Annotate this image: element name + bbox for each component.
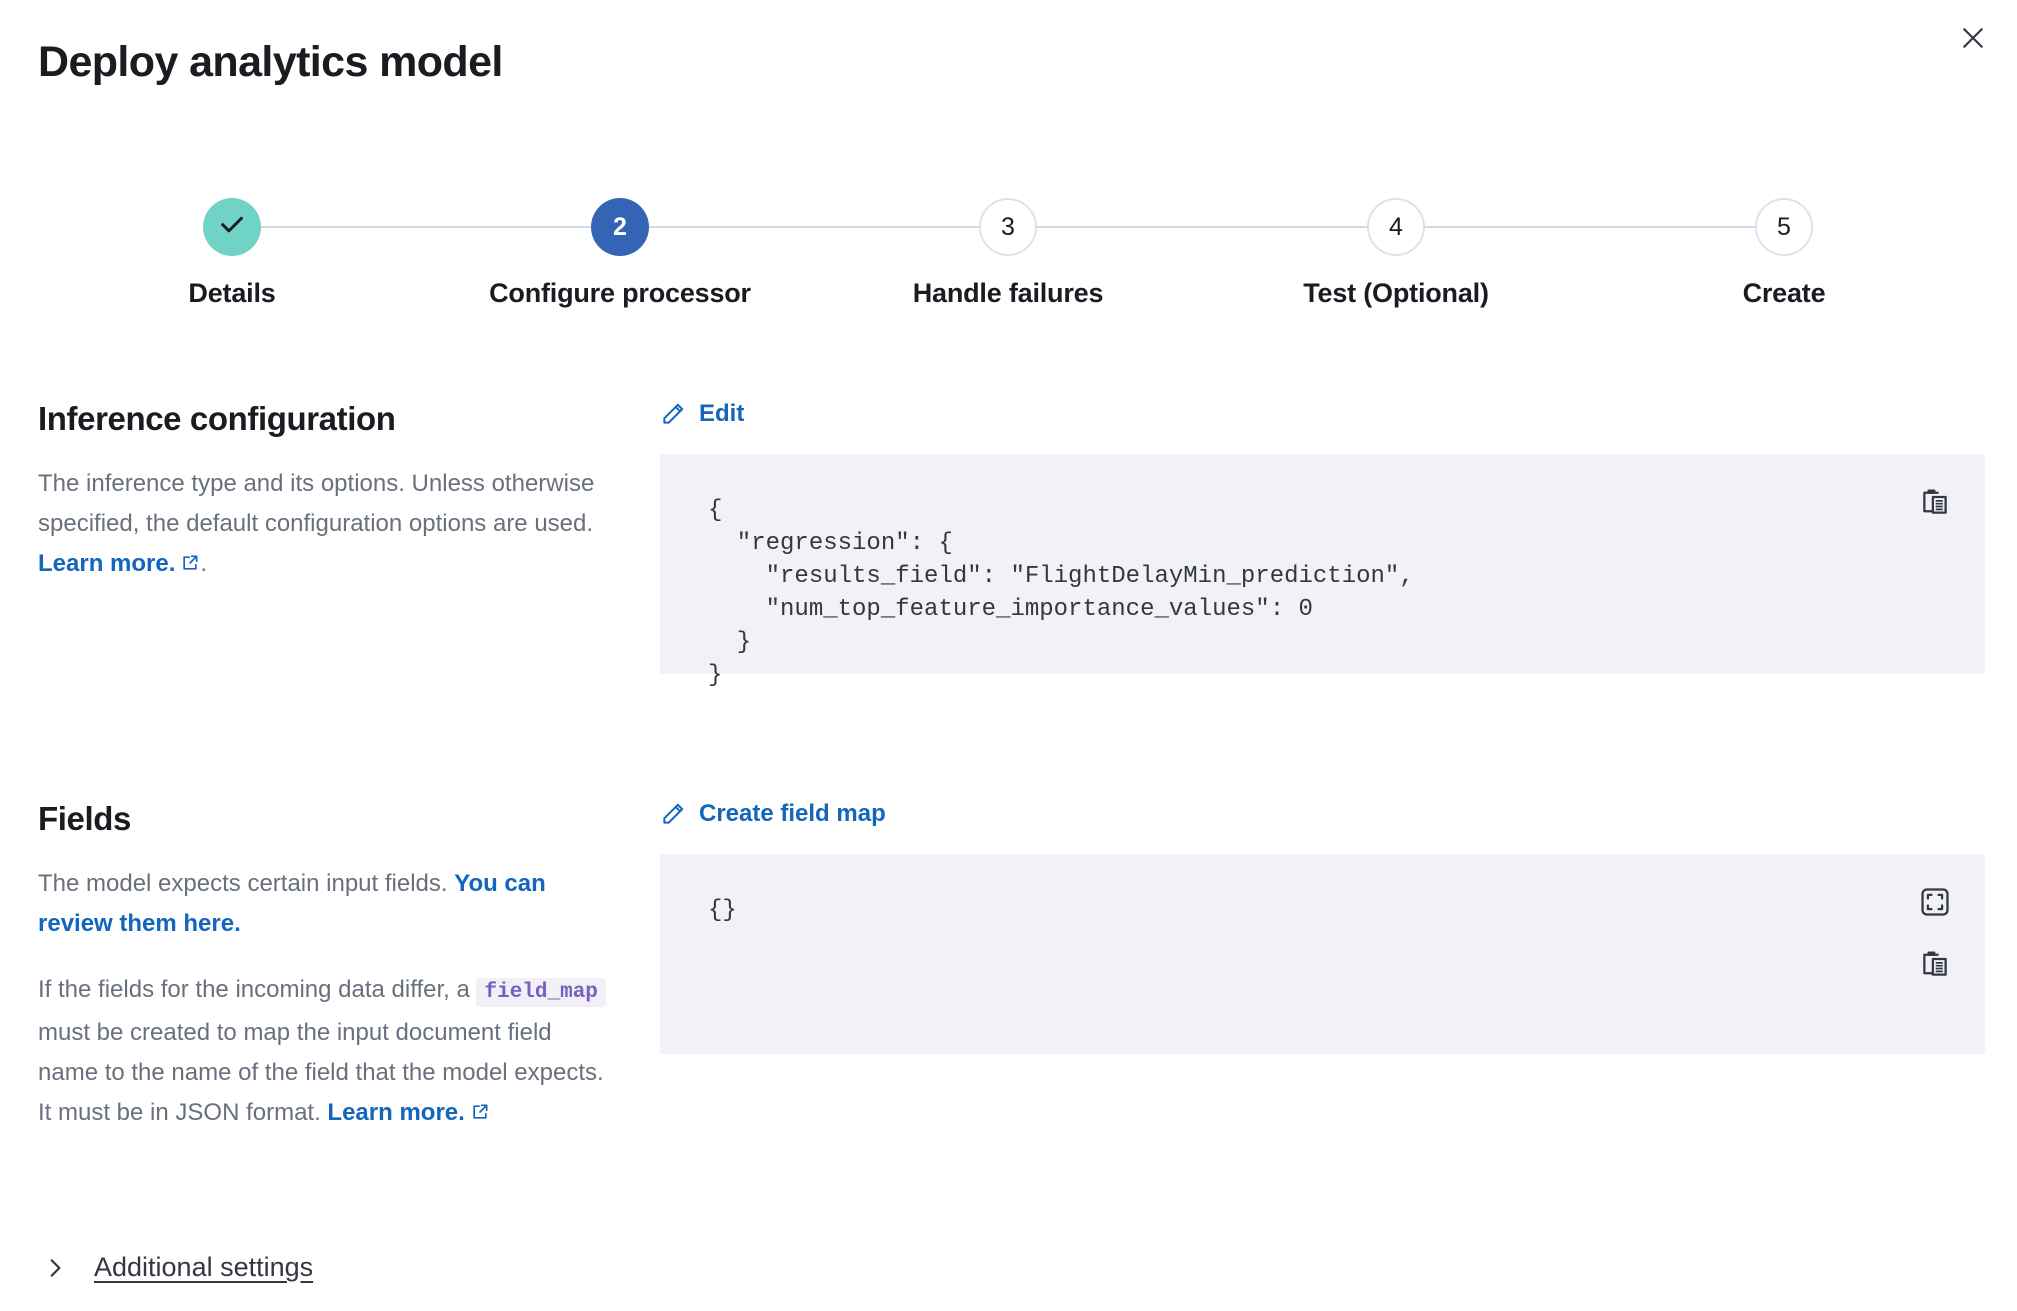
step-create[interactable]: 5 Create (1590, 198, 1978, 309)
step-configure-processor[interactable]: 2 Configure processor (426, 198, 814, 309)
close-icon (1958, 23, 1988, 53)
step-handle-failures[interactable]: 3 Handle failures (814, 198, 1202, 309)
step-label-4[interactable]: Test (Optional) (1303, 278, 1489, 309)
step-indicator-4[interactable]: 4 (1367, 198, 1425, 256)
external-link-icon (180, 546, 200, 586)
inference-config-code: { "regression": { "results_field": "Flig… (708, 494, 1985, 692)
step-label-1[interactable]: Details (188, 278, 275, 309)
step-indicator-5[interactable]: 5 (1755, 198, 1813, 256)
field-map-code: {} (708, 894, 1985, 927)
fields-description: The model expects certain input fields. … (38, 864, 618, 944)
field-map-note-pre: If the fields for the incoming data diff… (38, 976, 476, 1003)
step-circle-row: 3 (814, 198, 1202, 256)
field-map-code-actions (1915, 882, 1955, 984)
deploy-analytics-model-modal: Deploy analytics model Details 2 (0, 0, 2017, 1311)
inference-code-actions (1915, 482, 1955, 522)
field-map-code-badge: field_map (476, 978, 605, 1007)
step-test-optional[interactable]: 4 Test (Optional) (1202, 198, 1590, 309)
inference-description-tail: . (200, 550, 207, 577)
create-field-map-button[interactable]: Create field map (660, 800, 886, 828)
step-circle-row: 4 (1202, 198, 1590, 256)
field-map-code-block: {} (660, 854, 1985, 1054)
copy-field-map-button[interactable] (1915, 944, 1955, 984)
copy-icon (1918, 485, 1952, 519)
edit-inference-config-button[interactable]: Edit (660, 400, 744, 428)
field-map-note: If the fields for the incoming data diff… (38, 970, 618, 1135)
inference-config-code-block: { "regression": { "results_field": "Flig… (660, 454, 1985, 674)
fields-editor-column: Create field map {} (660, 800, 1985, 1054)
step-circle-row (38, 198, 426, 256)
page-title: Deploy analytics model (38, 38, 503, 87)
step-label-5[interactable]: Create (1743, 278, 1826, 309)
wizard-stepper: Details 2 Configure processor 3 Handle f… (38, 198, 1978, 309)
step-label-2[interactable]: Configure processor (489, 278, 751, 309)
step-indicator-1[interactable] (203, 198, 261, 256)
step-label-3[interactable]: Handle failures (913, 278, 1104, 309)
fullscreen-icon (1918, 885, 1952, 919)
chevron-right-icon (42, 1255, 68, 1281)
close-button[interactable] (1949, 14, 1997, 62)
check-icon (217, 209, 247, 246)
copy-inference-config-button[interactable] (1915, 482, 1955, 522)
inference-description: The inference type and its options. Unle… (38, 464, 618, 586)
additional-settings-accordion[interactable]: Additional settings (42, 1252, 313, 1283)
expand-field-map-button[interactable] (1915, 882, 1955, 922)
step-details[interactable]: Details (38, 198, 426, 309)
step-circle-row: 2 (426, 198, 814, 256)
fields-learn-more-link[interactable]: Learn more. (327, 1099, 464, 1126)
step-indicator-3[interactable]: 3 (979, 198, 1037, 256)
pencil-icon (660, 801, 686, 827)
step-indicator-2[interactable]: 2 (591, 198, 649, 256)
copy-icon (1918, 947, 1952, 981)
fields-heading: Fields (38, 800, 618, 838)
additional-settings-label: Additional settings (94, 1252, 313, 1283)
inference-editor-column: Edit { "regression": { "results_field": … (660, 400, 1985, 674)
fields-description-text: The model expects certain input fields. (38, 870, 454, 897)
pencil-icon (660, 401, 686, 427)
field-map-note-mid: must be created to map the input documen… (38, 1019, 604, 1126)
inference-heading: Inference configuration (38, 400, 618, 438)
create-field-map-label: Create field map (699, 800, 886, 828)
external-link-icon (470, 1095, 490, 1135)
inference-description-column: Inference configuration The inference ty… (38, 400, 618, 586)
edit-inference-config-label: Edit (699, 400, 744, 428)
fields-description-column: Fields The model expects certain input f… (38, 800, 618, 1135)
inference-learn-more-link[interactable]: Learn more. (38, 550, 175, 577)
inference-description-text: The inference type and its options. Unle… (38, 470, 594, 537)
step-circle-row: 5 (1590, 198, 1978, 256)
